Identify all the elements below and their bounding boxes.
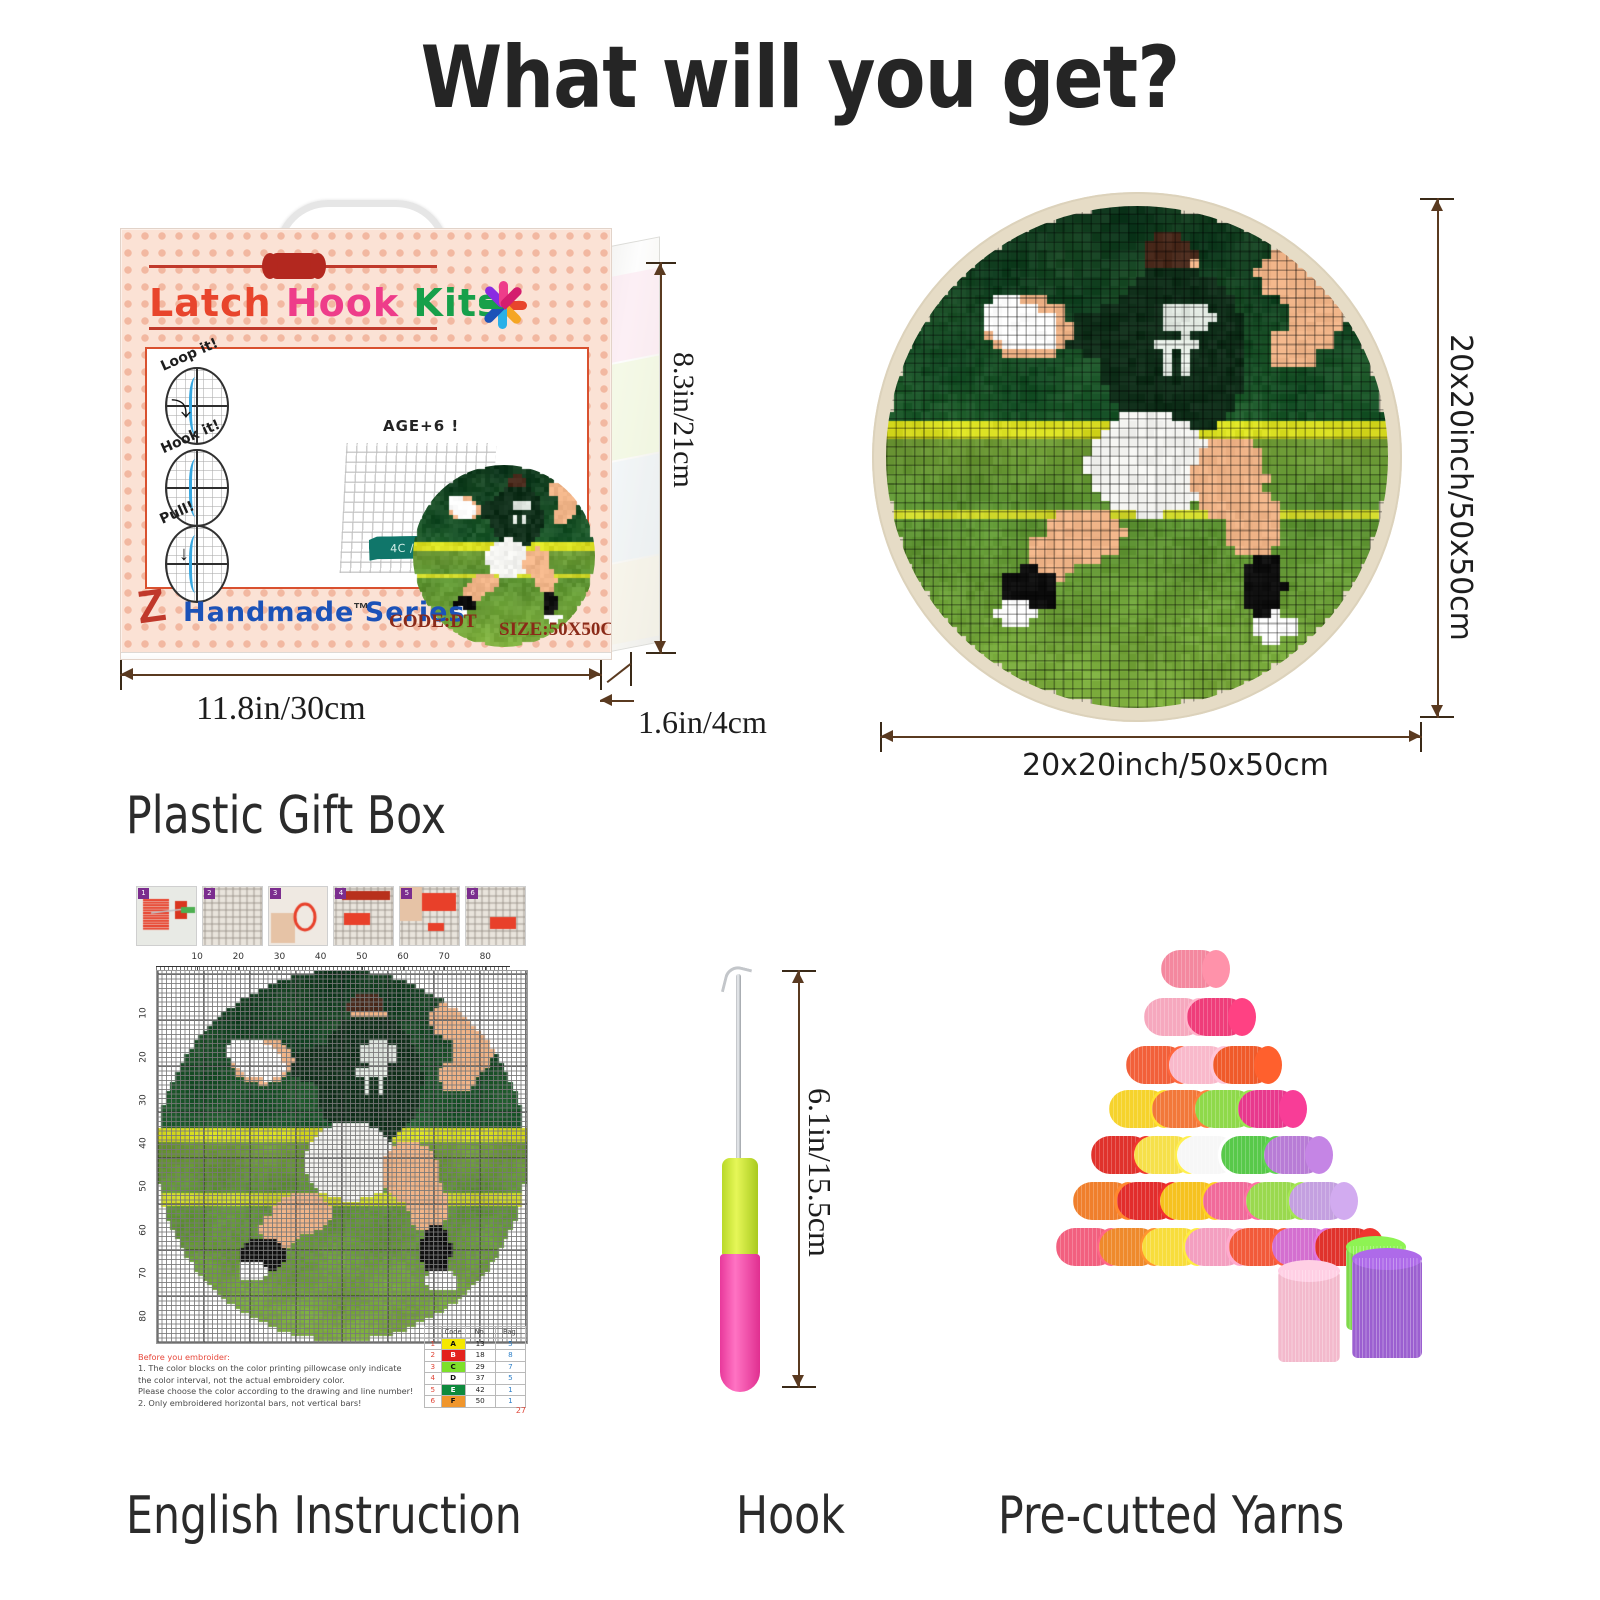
warning-heading: Before you embroider:: [138, 1352, 428, 1363]
brand-word-latch: Latch: [149, 281, 272, 325]
table-row: 3C297: [425, 1361, 526, 1373]
cell-no: 13: [465, 1338, 495, 1350]
box-depth-label: 1.6in/4cm: [638, 704, 767, 741]
hook-handle-lower: [720, 1254, 760, 1392]
vaxis-tick-label: 80: [139, 1310, 149, 1321]
tutorial-photo: 44: [333, 886, 394, 946]
th-code: Code: [441, 1327, 465, 1339]
cell-bag: 5: [495, 1373, 525, 1385]
box-height-label: 8.3in/21cm: [666, 352, 700, 488]
cell-bag: 5: [495, 1338, 525, 1350]
canvas-artwork: [886, 206, 1388, 708]
cell-index: 1: [425, 1338, 442, 1350]
infographic-page: What will you get? Latch Hook Kits Loop …: [0, 0, 1600, 1600]
ruler-tick-label: 20: [233, 952, 244, 962]
th-index: [425, 1327, 442, 1339]
table-row: 4D375: [425, 1373, 526, 1385]
table-row: 5E421: [425, 1384, 526, 1396]
hook-barb: [721, 963, 752, 997]
yarn-bundle-standing: [1278, 1270, 1340, 1362]
tutorial-photo: 22: [202, 886, 263, 946]
yarn-bundle: [1213, 1046, 1273, 1084]
cell-no: 18: [465, 1350, 495, 1362]
color-table-total: 27: [424, 1406, 530, 1415]
warning-text-block: Before you embroider: 1. The color block…: [138, 1352, 428, 1409]
vaxis-tick-label: 20: [139, 1051, 149, 1062]
caption-english-instruction: English Instruction: [126, 1486, 522, 1546]
brand-word-hook: Hook: [286, 281, 399, 325]
ruler-tick-label: 10: [191, 952, 202, 962]
caption-plastic-gift-box: Plastic Gift Box: [126, 786, 446, 846]
table-row: 2B188: [425, 1350, 526, 1362]
yarn-pile-image: [960, 940, 1460, 1390]
vertical-ruler: 1020304050607080: [138, 970, 156, 1342]
product-code: CODE:DT: [389, 611, 477, 633]
ruler-tick-label: 60: [397, 952, 408, 962]
ruler-tick-label: 30: [274, 952, 285, 962]
cell-bag: 1: [495, 1384, 525, 1396]
th-no: No.: [465, 1327, 495, 1339]
yarn-bundle: [1238, 1090, 1298, 1128]
cell-index: 2: [425, 1350, 442, 1362]
yarn-bundle: [1289, 1182, 1349, 1220]
box-inner-panel: Loop it! ⤵ Hook it! Pull! ↓ AGE+6 ! 4C /…: [145, 347, 589, 589]
canvas-height-label: 20x20inch/50x50cm: [1443, 334, 1478, 641]
cell-code: C: [441, 1361, 465, 1373]
tutorial-photo-strip: 11 22 33 44 55 66: [136, 886, 526, 944]
page-title: What will you get?: [112, 28, 1488, 128]
hook-needle: [736, 974, 741, 1170]
cell-index: 5: [425, 1384, 442, 1396]
cell-no: 29: [465, 1361, 495, 1373]
vaxis-tick-label: 30: [139, 1094, 149, 1105]
finished-canvas-image: [872, 192, 1402, 722]
warning-line-1: 1. The color blocks on the color printin…: [138, 1363, 428, 1374]
vaxis-tick-label: 50: [139, 1181, 149, 1192]
cell-no: 37: [465, 1373, 495, 1385]
vaxis-tick-label: 70: [139, 1267, 149, 1278]
yarn-bundle: [1161, 950, 1221, 988]
vaxis-tick-label: 60: [139, 1224, 149, 1235]
pinwheel-logo-icon: [473, 275, 543, 337]
warning-line-3: Please choose the color according to the…: [138, 1386, 428, 1397]
cell-code: E: [441, 1384, 465, 1396]
instruction-sheet-image: 11 22 33 44 55 66 1020304050: [128, 878, 530, 1448]
pattern-chart: [156, 970, 528, 1344]
table-header-row: Code No. Bag.: [425, 1327, 526, 1339]
product-size: SIZE:50X50CM: [499, 619, 612, 641]
cell-code: A: [441, 1338, 465, 1350]
cell-bag: 8: [495, 1350, 525, 1362]
warning-line-4: 2. Only embroidered horizontal bars, not…: [138, 1398, 428, 1409]
hook-tool-image: [700, 962, 790, 1392]
gift-box-image: Latch Hook Kits Loop it! ⤵ Hook it! Pull…: [120, 228, 640, 668]
caption-hook: Hook: [736, 1486, 845, 1546]
ruler-tick-label: 50: [356, 952, 367, 962]
cell-index: 3: [425, 1361, 442, 1373]
ruler-tick-label: 40: [315, 952, 326, 962]
hook-handle-upper: [722, 1158, 758, 1256]
color-code-table: Code No. Bag. 1A1352B1883C2974D3755E4216…: [424, 1326, 526, 1408]
yarn-bundle: [1264, 1136, 1324, 1174]
tutorial-photo: 11: [136, 886, 197, 946]
cell-no: 42: [465, 1384, 495, 1396]
tutorial-photo: 33: [268, 886, 329, 946]
trademark-mark: ™: [353, 601, 369, 619]
vaxis-tick-label: 40: [139, 1137, 149, 1148]
box-width-label: 11.8in/30cm: [196, 690, 366, 728]
tutorial-photo: 55: [399, 886, 460, 946]
warning-line-2: the color interval, not the actual embro…: [138, 1375, 428, 1386]
cell-index: 4: [425, 1373, 442, 1385]
th-bag: Bag.: [495, 1327, 525, 1339]
age-label: AGE+6 !: [383, 417, 459, 435]
yarn-bundle: [1187, 998, 1247, 1036]
cell-bag: 7: [495, 1361, 525, 1373]
vaxis-tick-label: 10: [139, 1008, 149, 1019]
table-row: 1A135: [425, 1338, 526, 1350]
box-front-panel: Latch Hook Kits Loop it! ⤵ Hook it! Pull…: [120, 228, 612, 660]
hook-length-label: 6.1in/15.5cm: [801, 1088, 838, 1257]
yarn-bundle-standing: [1352, 1258, 1422, 1358]
ruler-tick-label: 80: [480, 952, 491, 962]
box-brand-title: Latch Hook Kits: [149, 281, 501, 325]
tutorial-photo: 66: [465, 886, 526, 946]
caption-precutted-yarns: Pre-cutted Yarns: [998, 1486, 1344, 1546]
canvas-width-label: 20x20inch/50x50cm: [1022, 748, 1329, 783]
ruler-tick-label: 70: [438, 952, 449, 962]
cell-code: D: [441, 1373, 465, 1385]
cell-code: B: [441, 1350, 465, 1362]
